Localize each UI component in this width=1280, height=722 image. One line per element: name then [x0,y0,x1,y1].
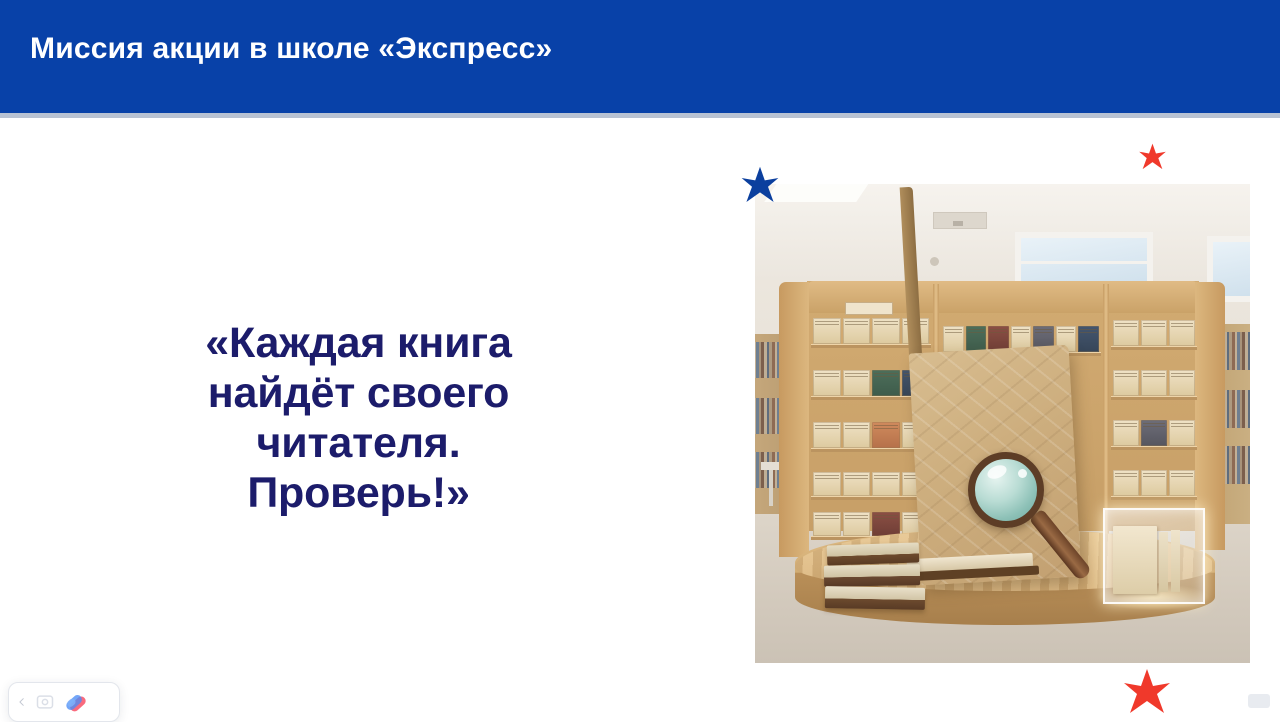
header-underline [0,113,1280,118]
photo-book-row [813,472,929,496]
photo-display-card [1113,526,1157,594]
photo-shelf-board [1111,346,1197,350]
photo-stacked-book [824,564,920,587]
photo-shelf-label [845,302,893,315]
photo-book [1113,470,1139,496]
photo-book [813,472,841,496]
quote-text-block: «Каждая книга найдёт своего читателя. Пр… [86,318,631,518]
photo-book [943,326,964,352]
quote-line-2: найдёт своего [86,368,631,418]
photo-display-card [1159,532,1168,592]
photo-book [1141,370,1167,396]
photo-shelf-board [1111,446,1197,450]
photo-book [872,512,900,536]
photo-book [872,472,900,496]
photo-book [843,422,871,448]
star-blue-icon [740,166,780,206]
page-title: Миссия акции в школе «Экспресс» [30,30,1130,68]
photo-book-row [1113,470,1195,496]
photo-window-center-mullion [1015,261,1153,264]
photo-book [872,318,900,344]
photo-display-card [1171,530,1180,592]
library-exhibition-photo [755,184,1250,663]
photo-book [843,512,871,536]
photo-book [1169,470,1195,496]
pen-icon[interactable] [63,689,89,715]
photo-book [1169,370,1195,396]
photo-book [843,370,871,396]
photo-book [1169,320,1195,346]
photo-book [813,370,841,396]
presentation-slide: Миссия акции в школе «Экспресс» «Каждая … [0,0,1280,711]
photo-book [843,472,871,496]
photo-book [843,318,871,344]
photo-book [1113,370,1139,396]
photo-book-row [1113,320,1195,346]
corner-resize-handle[interactable] [1248,694,1270,708]
quote-line-1: «Каждая книга [86,318,631,368]
photo-book [1113,320,1139,346]
photo-smoke-detector [930,257,939,266]
photo-stacked-book [827,542,920,565]
photo-book [1113,420,1139,446]
photo-stacked-book [825,586,925,610]
photo-book [1078,326,1099,352]
photo-shelf-board [811,496,931,500]
floating-edit-toolbar[interactable] [8,682,120,722]
photo-bookcase-left-wing [779,282,809,557]
photo-book-row [1113,420,1195,446]
magnifier-highlight [1018,469,1027,478]
photo-ceiling-light [764,184,874,202]
photo-book-row [1113,370,1195,396]
photo-table-leg [769,470,773,506]
photo-shelf-board [1111,496,1197,500]
photo-book [813,422,841,448]
magnifying-glass-icon [968,452,1044,528]
photo-book [966,326,987,352]
photo-book [872,370,900,396]
photo-book [872,422,900,448]
photo-book-row [813,422,929,448]
star-red-icon [1138,143,1167,172]
photo-shelf-divider [1103,284,1109,534]
photo-book [813,512,841,536]
photo-ceiling-vent-inner [953,221,963,226]
photo-book [1141,470,1167,496]
chevron-left-icon[interactable] [17,695,27,709]
quote-line-3: читателя. [86,418,631,468]
photo-book [1169,420,1195,446]
photo-shelf-board [1111,396,1197,400]
frame-icon[interactable] [35,692,55,712]
photo-book [1141,420,1167,446]
quote-line-4: Проверь!» [86,468,631,518]
photo-book [1141,320,1167,346]
photo-book [813,318,841,344]
